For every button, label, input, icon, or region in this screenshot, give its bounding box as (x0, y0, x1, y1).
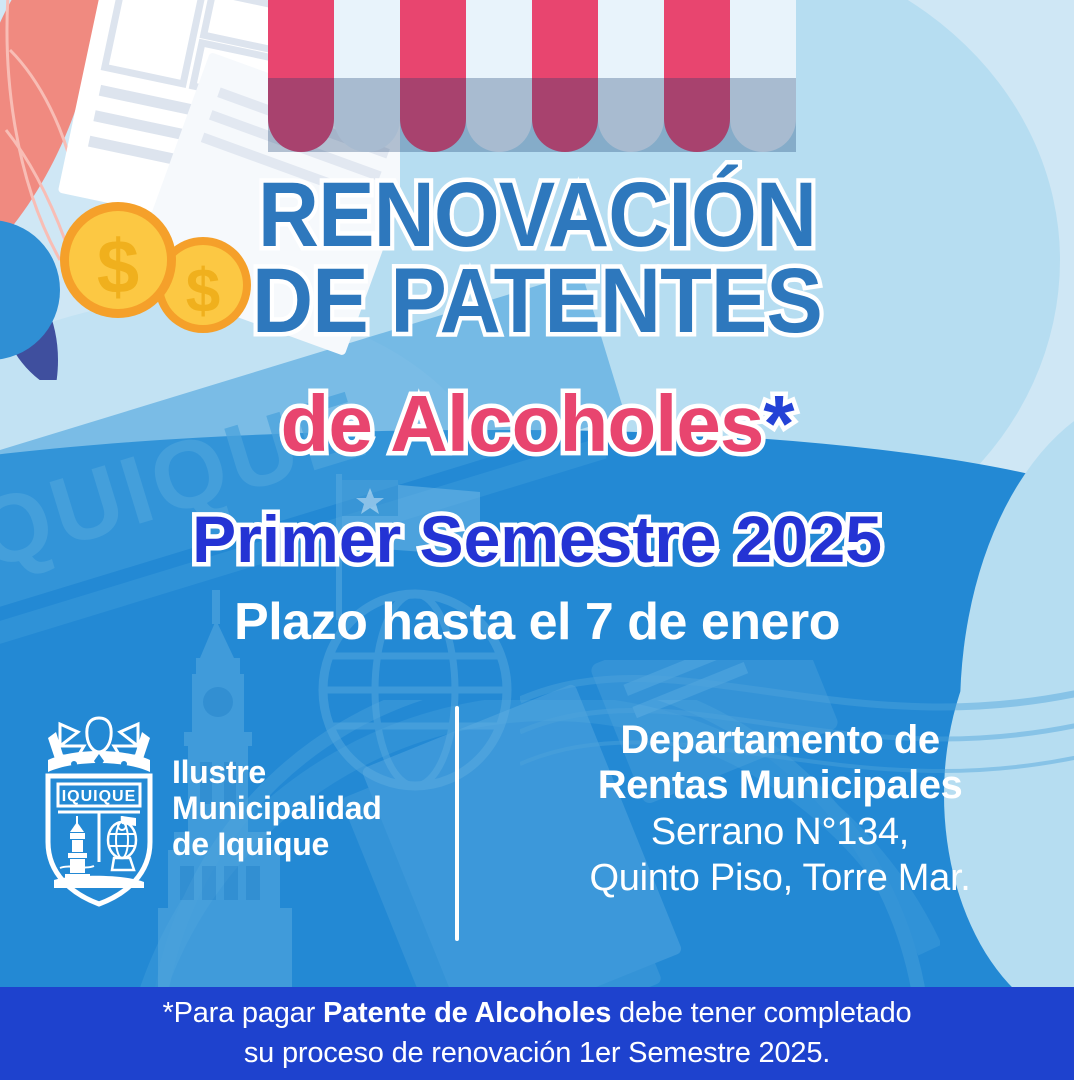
poster-title: RENOVACIÓN DE PATENTES (0, 172, 1074, 345)
department-name-line-1: Departamento de (500, 718, 1060, 763)
poster-deadline: Plazo hasta el 7 de enero (0, 596, 1074, 648)
footer-line-2: su proceso de renovación 1er Semestre 20… (244, 1037, 830, 1069)
subtitle-text: de Alcoholes (280, 379, 763, 468)
organization-row: IQUIQUE (0, 700, 1074, 950)
org-line-3: de Iquique (172, 827, 381, 863)
awning-decoration (268, 0, 796, 152)
poster-canvas: IQUIQUE (0, 0, 1074, 1080)
org-line-2: Municipalidad (172, 791, 381, 827)
department-address-line-2: Quinto Piso, Torre Mar. (500, 856, 1060, 901)
department-info: Departamento de Rentas Municipales Serra… (500, 718, 1060, 901)
org-line-1: Ilustre (172, 755, 381, 791)
footer-suffix: debe tener completado (611, 997, 911, 1029)
poster-period: Primer Semestre 2025 (0, 506, 1074, 572)
organization-name: Ilustre Municipalidad de Iquique (172, 755, 381, 862)
department-name-line-2: Rentas Municipales (500, 763, 1060, 808)
title-line-2: DE PATENTES (43, 258, 1031, 344)
crest-city-label: IQUIQUE (62, 788, 137, 805)
footer-note: *Para pagar Patente de Alcoholes debe te… (163, 994, 912, 1072)
footer-banner: *Para pagar Patente de Alcoholes debe te… (0, 987, 1074, 1080)
department-address-line-1: Serrano N°134, (500, 810, 1060, 855)
vertical-divider (455, 706, 459, 941)
iquique-coat-of-arms-icon: IQUIQUE (34, 712, 164, 907)
footer-prefix: *Para pagar (163, 997, 323, 1029)
subtitle-asterisk: * (763, 379, 793, 468)
poster-subtitle: de Alcoholes* (0, 384, 1074, 464)
footer-bold: Patente de Alcoholes (323, 997, 611, 1029)
